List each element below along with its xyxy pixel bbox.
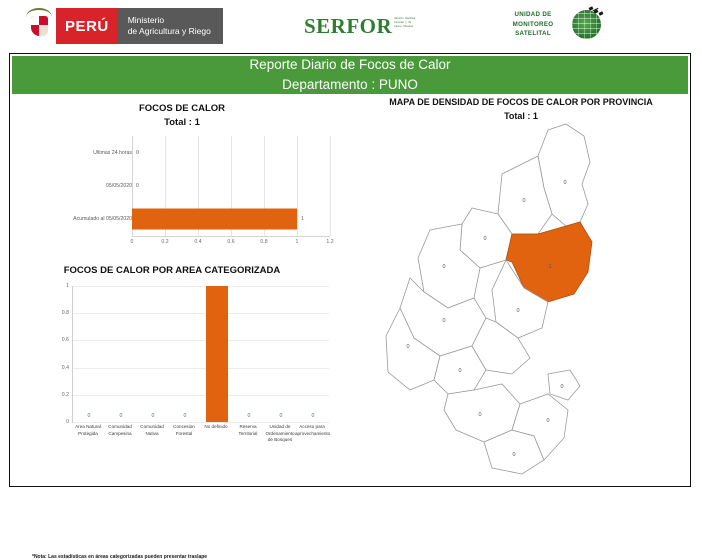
chart2-category-label: Area Natural Protegida [71, 424, 105, 437]
chart2-category-label: Reserva Territorial [231, 424, 265, 437]
report-title-banner: Reporte Diario de Focos de Calor Departa… [12, 56, 688, 94]
focos-de-calor-bar-chart: 00.20.40.60.811.2Ultimas 24 horas005/05/… [20, 136, 340, 258]
chart2-category-label: Unidad de Ordenamiento de Bosques [263, 424, 297, 444]
chart2-value-label: 0 [248, 413, 251, 419]
chart2-y-tick: 0.8 [62, 310, 69, 316]
chart2-gridline [73, 395, 329, 396]
chart1-x-tick: 1.2 [326, 239, 333, 245]
chart2-y-tick: 0.6 [62, 337, 69, 343]
peru-coat-of-arms-icon [22, 8, 56, 44]
chart1-title-line-2: Total : 1 [12, 116, 352, 130]
banner-line-2: Departamento : PUNO [282, 75, 418, 95]
chart1-category-label: Acumulado al 05/05/2020 [73, 216, 132, 222]
chart2-gridline [73, 313, 329, 314]
map-title-line-1: MAPA DE DENSIDAD DE FOCOS DE CALOR POR P… [352, 96, 690, 110]
ums-label: UNIDAD DE MONITOREO SATELITAL [500, 10, 566, 39]
chart2-y-tick: 0 [66, 419, 69, 425]
chart2-value-label: 0 [152, 413, 155, 419]
province-value-san-roman: 0 [458, 368, 461, 374]
ministry-label: Ministerio de Agricultura y Riego [118, 8, 223, 44]
province-value-huancane: 0 [483, 236, 486, 242]
serfor-wordmark: SERFOR [304, 16, 392, 37]
chart2-category-label: Comunidad Nativa [135, 424, 169, 437]
ums-line-3: SATELITAL [500, 29, 566, 39]
puno-density-map[interactable]: 0 0 0 0 1 0 0 0 0 0 0 0 0 [352, 122, 690, 478]
map-panel: MAPA DE DENSIDAD DE FOCOS DE CALOR POR P… [352, 96, 690, 481]
chart1-value-label: 0 [136, 183, 139, 189]
chart2-value-label: 0 [88, 413, 91, 419]
chart1-title-line-1: FOCOS DE CALOR [12, 102, 352, 116]
ministry-line-1: Ministerio [128, 15, 211, 26]
chart2-gridline [73, 286, 329, 287]
province-value-moho: 0 [516, 308, 519, 314]
serfor-logo: SERFOR Servicio Nacional Forestal y de F… [304, 16, 420, 37]
government-logo-block: PERÚ Ministerio de Agricultura y Riego [22, 8, 223, 44]
province-value-azangaro: 0 [442, 264, 445, 270]
chart1-x-tick: 0 [131, 239, 134, 245]
chart2-category-label: No definido [199, 424, 233, 431]
chart1-category-label: Ultimas 24 horas [93, 150, 132, 156]
chart2-gridline [73, 368, 329, 369]
globe-icon [572, 10, 601, 39]
province-value-el-collao: 0 [512, 452, 515, 458]
satellite-icon [588, 5, 604, 19]
chart2-plot-area: 00.20.40.60.810000000 [72, 286, 329, 423]
province-yunguyo [548, 370, 580, 400]
footnote: *Nota: Las estadísticas en áreas categor… [32, 554, 207, 560]
page-header: PERÚ Ministerio de Agricultura y Riego S… [0, 0, 702, 50]
chart2-bar [206, 286, 228, 422]
province-value-melgar: 0 [442, 318, 445, 324]
chart1-category-label: 05/05/2020 [106, 183, 132, 189]
satellite-monitoring-unit-logo: UNIDAD DE MONITOREO SATELITAL [500, 10, 601, 39]
province-value-lampa: 0 [406, 344, 409, 350]
map-title: MAPA DE DENSIDAD DE FOCOS DE CALOR POR P… [352, 96, 690, 123]
chart1-bar-row: Acumulado al 05/05/20201 [20, 203, 340, 236]
map-svg[interactable]: 0 0 0 0 1 0 0 0 0 0 0 0 0 [352, 122, 690, 478]
chart1-x-tick: 0.6 [227, 239, 234, 245]
chart2-category-label: Concesion Forestal [167, 424, 201, 437]
chart2-gridline [73, 340, 329, 341]
chart1-bar-row: Ultimas 24 horas0 [20, 136, 340, 169]
province-value-chucuito: 0 [546, 418, 549, 424]
left-charts-panel: FOCOS DE CALOR Total : 1 00.20.40.60.811… [12, 96, 352, 481]
ums-line-2: MONITOREO [500, 20, 566, 30]
province-value-carabaya: 1 [548, 264, 551, 270]
chart1-value-label: 1 [301, 216, 304, 222]
chart1-title: FOCOS DE CALOR Total : 1 [12, 102, 352, 131]
chart1-value-label: 0 [136, 150, 139, 156]
province-value-yunguyo: 0 [560, 384, 563, 390]
chart2-value-label: 0 [120, 413, 123, 419]
chart2-y-tick: 1 [66, 283, 69, 289]
chart1-x-tick: 0.8 [260, 239, 267, 245]
chart2-y-tick: 0.4 [62, 365, 69, 371]
chart1-x-tick: 0.4 [194, 239, 201, 245]
chart2-category-label: Acceso para aprovechamiento [295, 424, 329, 437]
chart1-x-axis [132, 236, 330, 237]
province-shapes [386, 124, 592, 474]
chart1-bar [132, 209, 297, 230]
chart2-category-label: Comunidad Campesina [103, 424, 137, 437]
chart2-title: FOCOS DE CALOR POR AREA CATEGORIZADA [12, 264, 332, 278]
chart1-bar-row: 05/05/20200 [20, 169, 340, 202]
province-value-sandia: 0 [563, 180, 566, 186]
chart1-x-tick: 0.2 [161, 239, 168, 245]
serfor-subtitle: Servicio Nacional Forestal y de Fauna Si… [394, 17, 420, 29]
chart2-value-label: 0 [280, 413, 283, 419]
ums-line-1: UNIDAD DE [500, 10, 566, 20]
province-value-puno: 0 [478, 412, 481, 418]
ministry-line-2: de Agricultura y Riego [128, 26, 211, 37]
map-title-line-2: Total : 1 [352, 110, 690, 124]
chart2-value-label: 0 [312, 413, 315, 419]
chart2-y-tick: 0.2 [62, 392, 69, 398]
chart2-value-label: 0 [184, 413, 187, 419]
province-value-putina: 0 [522, 198, 525, 204]
chart1-x-tick: 1 [296, 239, 299, 245]
focos-por-area-categorizada-chart: 00.20.40.60.810000000 Area Natural Prote… [20, 282, 340, 472]
banner-line-1: Reporte Diario de Focos de Calor [249, 55, 450, 75]
peru-label: PERÚ [56, 8, 118, 44]
chart2-gridline [73, 422, 329, 423]
